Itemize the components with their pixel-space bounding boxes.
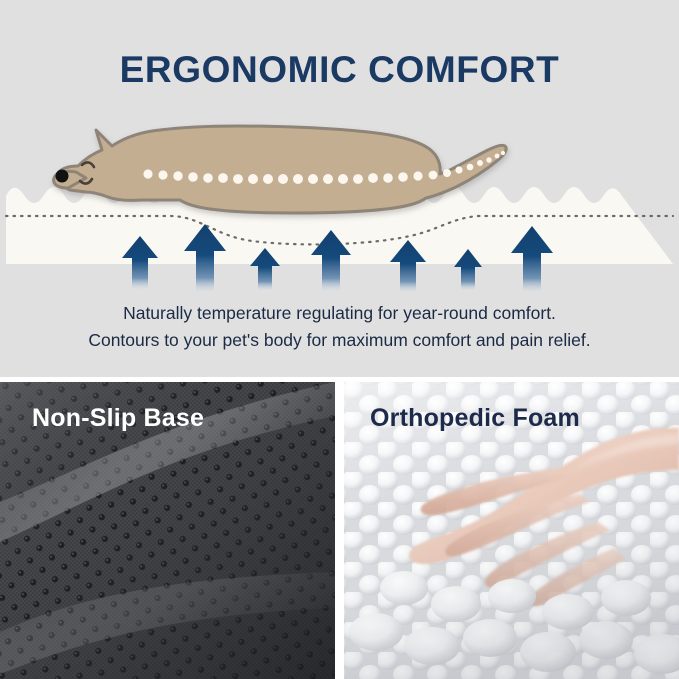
caption-line-2: Contours to your pet's body for maximum … [0, 327, 679, 354]
caption-line-1: Naturally temperature regulating for yea… [0, 300, 679, 327]
hero-panel: ERGONOMIC COMFORT [0, 0, 679, 377]
hero-caption: Naturally temperature regulating for yea… [0, 300, 679, 354]
panel-non-slip-base: Non-Slip Base [0, 382, 335, 679]
panel-orthopedic-foam: Orthopedic Foam [344, 382, 679, 679]
product-feature-graphic: ERGONOMIC COMFORT [0, 0, 679, 679]
panel-label-orthopedic-foam: Orthopedic Foam [370, 404, 580, 433]
vertical-divider [335, 377, 344, 679]
dog-nose-icon [56, 170, 69, 183]
dog-figure [54, 126, 507, 213]
panel-label-non-slip-base: Non-Slip Base [32, 404, 204, 433]
dog-on-mattress-illustration [0, 108, 679, 293]
page-title: ERGONOMIC COMFORT [0, 49, 679, 91]
